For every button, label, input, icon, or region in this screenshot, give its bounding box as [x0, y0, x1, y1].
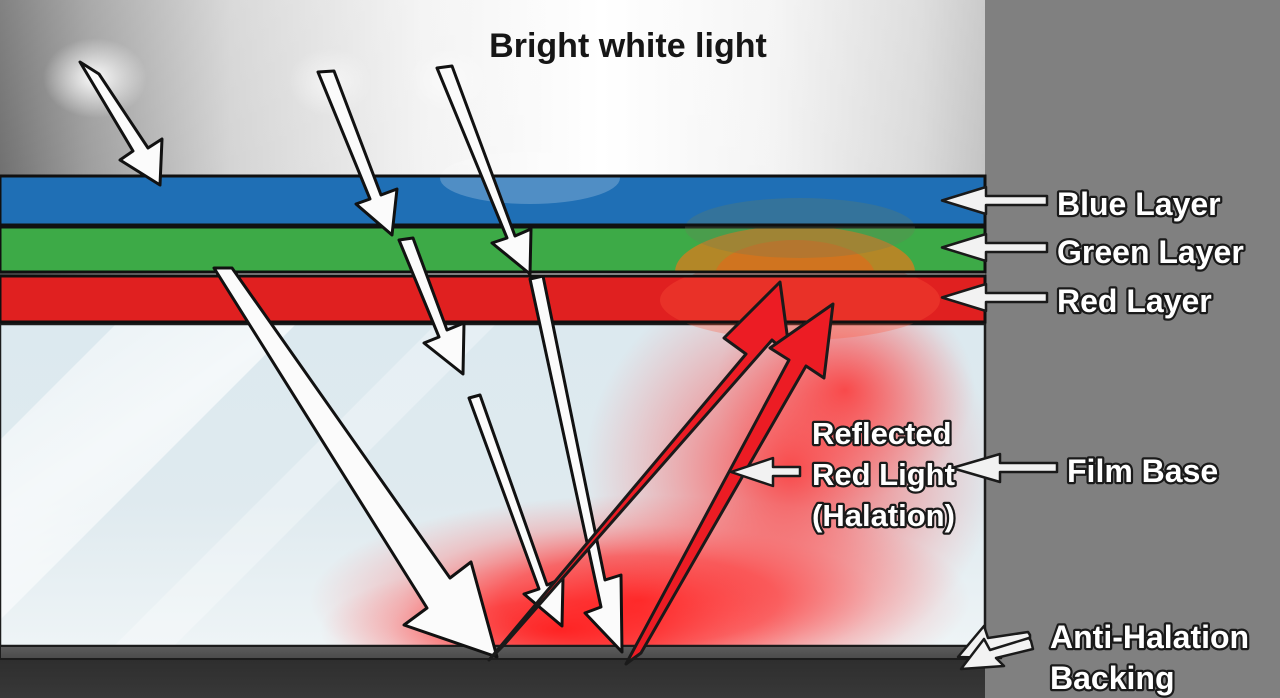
- halation-label-line1: Reflected: [812, 416, 952, 451]
- right-gray-panel: [985, 0, 1280, 698]
- bottom-dark-substrate: [0, 659, 985, 698]
- anti-halation-backing-label-line2: Backing: [1050, 660, 1174, 696]
- halation-diagram: Bright white light: [0, 0, 1280, 698]
- red-layer-label: Red Layer: [1057, 283, 1212, 319]
- halation-callout-label: Reflected Red Light (Halation): [812, 416, 955, 533]
- film-base-label: Film Base: [1067, 453, 1218, 489]
- blue-layer-label: Blue Layer: [1057, 186, 1221, 222]
- page-title: Bright white light: [489, 27, 767, 65]
- halation-label-line3: (Halation): [812, 498, 955, 533]
- halation-label-line2: Red Light: [812, 457, 955, 492]
- green-layer-label: Green Layer: [1057, 234, 1244, 270]
- anti-halation-backing-label-line1: Anti-Halation: [1050, 619, 1249, 655]
